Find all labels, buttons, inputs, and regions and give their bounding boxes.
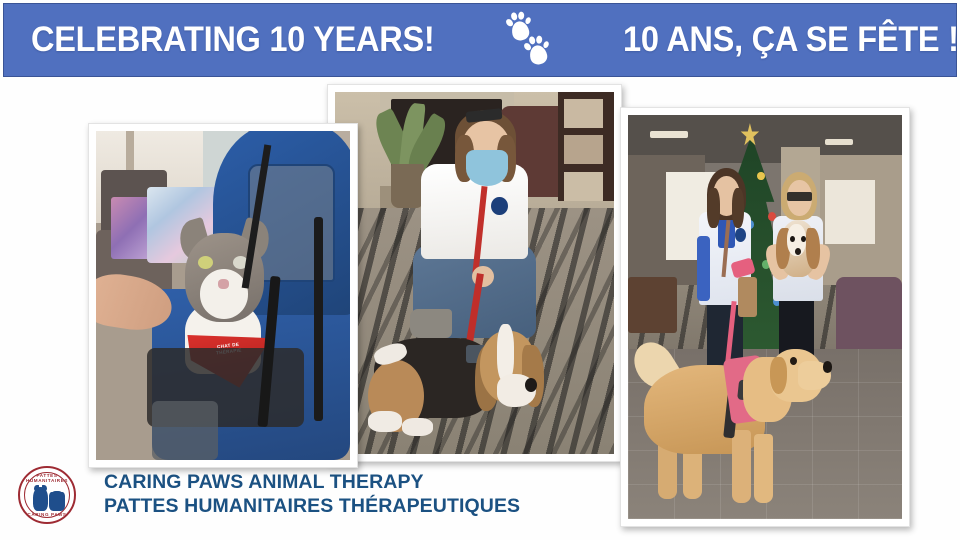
logo-seal-text-top: PATTES HUMANITAIRES [20, 473, 74, 483]
org-name-english: CARING PAWS ANIMAL THERAPY [104, 471, 520, 495]
banner-headline-english: CELEBRATING 10 YEARS! [31, 20, 435, 60]
eyeglasses-icon [787, 192, 812, 201]
photo-image-area [628, 115, 902, 519]
face-mask [466, 150, 508, 186]
christmas-volunteers-scene [628, 115, 902, 519]
celebration-banner: CELEBRATING 10 YEARS! 10 ANS, ÇA SE FÊTE… [3, 3, 957, 77]
paw-print-icon [499, 9, 561, 71]
cat-stroller-scene: CHAT DE THÉRAPIE [96, 131, 350, 460]
therapy-cat-in-stroller-photo: CHAT DE THÉRAPIE [88, 123, 358, 468]
slide-canvas: CELEBRATING 10 YEARS! 10 ANS, ÇA SE FÊTE… [0, 0, 960, 540]
photo-image-area [335, 92, 614, 454]
photo-image-area: CHAT DE THÉRAPIE [96, 131, 350, 460]
logo-seal-text-bottom: CARING PAWS [20, 512, 74, 517]
org-name-french: PATTES HUMANITAIRES THÉRAPEUTIQUES [104, 495, 520, 519]
caring-paws-seal-logo: PATTES HUMANITAIRES CARING PAWS [18, 466, 76, 524]
organization-name-block: CARING PAWS ANIMAL THERAPY PATTES HUMANI… [104, 471, 520, 519]
banner-headline-french: 10 ANS, ÇA SE FÊTE ! [623, 20, 959, 60]
handler-with-beagle-photo [327, 84, 622, 462]
volunteers-with-dogs-christmas-photo [620, 107, 910, 527]
footer-branding: PATTES HUMANITAIRES CARING PAWS CARING P… [18, 466, 520, 524]
cat-and-dog-silhouette-icon [33, 483, 65, 511]
beagle-handler-scene [335, 92, 614, 454]
